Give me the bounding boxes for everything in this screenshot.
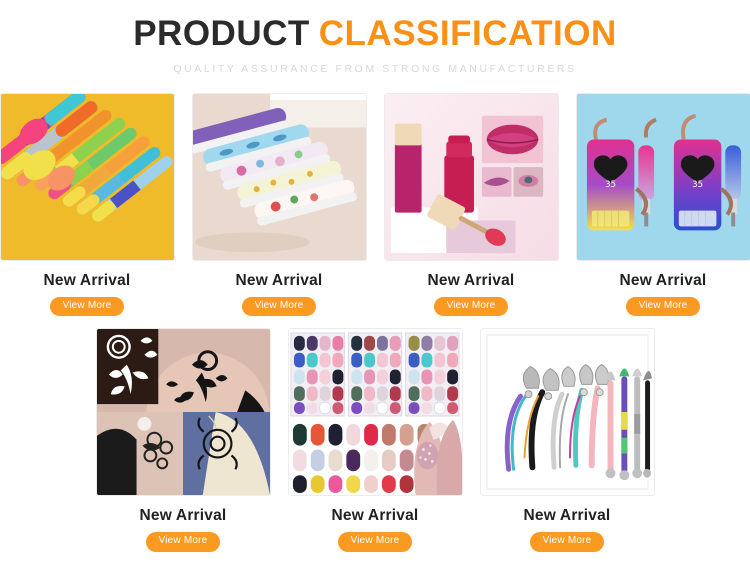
- view-more-button[interactable]: View More: [146, 532, 221, 552]
- product-classification-page: PRODUCTCLASSIFICATION QUALITY ASSURANCE …: [0, 0, 750, 574]
- view-more-button[interactable]: View More: [242, 297, 317, 317]
- view-more-button[interactable]: View More: [530, 532, 605, 552]
- product-card[interactable]: New Arrival View More: [192, 93, 367, 317]
- page-subtitle: QUALITY ASSURANCE FROM STRONG MANUFACTUR…: [0, 63, 750, 75]
- product-label: New Arrival: [140, 507, 227, 525]
- cuticle-nippers-tools-icon: [481, 329, 654, 495]
- product-thumbnail[interactable]: 35 35: [576, 93, 750, 261]
- view-more-button[interactable]: View More: [338, 532, 413, 552]
- product-card[interactable]: 35 35: [576, 93, 750, 317]
- page-header: PRODUCTCLASSIFICATION QUALITY ASSURANCE …: [0, 0, 750, 75]
- heart-display-nail-drill-machines-icon: 35 35: [577, 94, 750, 260]
- product-row-1: New Arrival View More: [0, 93, 750, 317]
- product-label: New Arrival: [428, 272, 515, 290]
- product-card[interactable]: New Arrival View More: [384, 93, 559, 317]
- product-thumbnail[interactable]: [0, 93, 175, 261]
- svg-text:35: 35: [605, 180, 616, 190]
- pink-lip-gloss-set-icon: [385, 94, 558, 260]
- product-row-2: New Arrival View More: [0, 328, 750, 552]
- product-thumbnail[interactable]: [192, 93, 367, 261]
- title-accent-part: CLASSIFICATION: [319, 14, 617, 53]
- product-card[interactable]: New Arrival View More: [96, 328, 271, 552]
- product-thumbnail[interactable]: [96, 328, 271, 496]
- title-dark-part: PRODUCT: [133, 14, 310, 53]
- view-more-button[interactable]: View More: [50, 297, 125, 317]
- product-card[interactable]: New Arrival View More: [480, 328, 655, 552]
- product-card[interactable]: New Arrival View More: [288, 328, 463, 552]
- product-label: New Arrival: [44, 272, 131, 290]
- product-label: New Arrival: [332, 507, 419, 525]
- page-title: PRODUCTCLASSIFICATION: [0, 16, 750, 53]
- view-more-button[interactable]: View More: [434, 297, 509, 317]
- patterned-nail-files-stack-icon: [193, 94, 366, 260]
- makeup-brushes-yellow-background-icon: [1, 94, 174, 260]
- product-thumbnail[interactable]: [384, 93, 559, 261]
- tattoo-stencil-collage-icon: [97, 329, 270, 495]
- product-label: New Arrival: [524, 507, 611, 525]
- view-more-button[interactable]: View More: [626, 297, 701, 317]
- svg-text:35: 35: [692, 180, 703, 190]
- press-on-nail-color-sets-icon: [289, 329, 462, 495]
- product-card[interactable]: New Arrival View More: [0, 93, 175, 317]
- product-thumbnail[interactable]: [288, 328, 463, 496]
- product-label: New Arrival: [236, 272, 323, 290]
- product-thumbnail[interactable]: [480, 328, 655, 496]
- product-label: New Arrival: [620, 272, 707, 290]
